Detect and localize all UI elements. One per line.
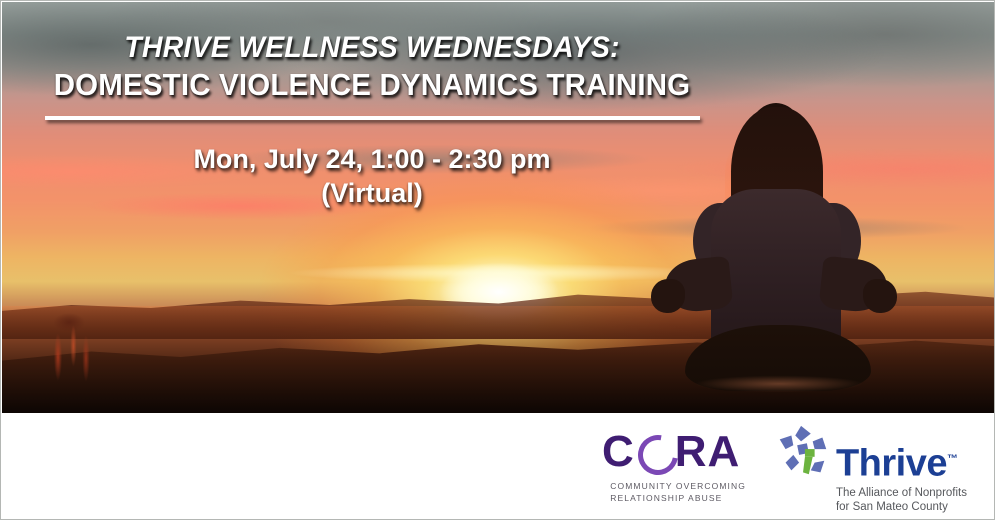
- thrive-logo: Thrive™ The Alliance of Nonprofits for S…: [772, 418, 967, 514]
- headline-block: THRIVE WELLNESS WEDNESDAYS: DOMESTIC VIO…: [2, 30, 742, 210]
- thrive-trademark-icon: ™: [947, 453, 958, 465]
- cora-tagline-line-1: COMMUNITY OVERCOMING: [610, 480, 746, 492]
- thrive-tagline-line-1: The Alliance of Nonprofits: [836, 486, 967, 500]
- title-line-1: THRIVE WELLNESS WEDNESDAYS:: [21, 30, 724, 66]
- title-line-2: DOMESTIC VIOLENCE DYNAMICS TRAINING: [21, 66, 724, 104]
- event-date-time: Mon, July 24, 1:00 - 2:30 pm: [2, 142, 742, 176]
- thrive-wordmark: Thrive: [836, 443, 947, 485]
- figure-hand-right-mudra: [863, 279, 897, 313]
- thrive-text-block: Thrive™ The Alliance of Nonprofits for S…: [836, 440, 967, 514]
- thrive-tagline: The Alliance of Nonprofits for San Mateo…: [836, 486, 967, 514]
- cora-wordmark: C R A: [596, 429, 746, 475]
- event-flyer: THRIVE WELLNESS WEDNESDAYS: DOMESTIC VIO…: [0, 0, 995, 520]
- cora-tagline-line-2: RELATIONSHIP ABUSE: [610, 492, 746, 504]
- cora-logo: C R A COMMUNITY OVERCOMING RELATIONSHIP …: [596, 429, 746, 504]
- event-format: (Virtual): [2, 176, 742, 210]
- cora-tagline: COMMUNITY OVERCOMING RELATIONSHIP ABUSE: [596, 480, 746, 504]
- divider-rule: [45, 116, 700, 120]
- thrive-wordmark-row: Thrive™: [836, 440, 958, 483]
- cora-swoosh-o-icon: [637, 434, 673, 470]
- cora-letter-c: C: [602, 429, 635, 475]
- thrive-pinwheel-icon: [772, 420, 834, 482]
- logo-row: C R A COMMUNITY OVERCOMING RELATIONSHIP …: [596, 418, 967, 514]
- plant-sprig: [37, 310, 107, 388]
- hero-photo: THRIVE WELLNESS WEDNESDAYS: DOMESTIC VIO…: [2, 2, 995, 413]
- thrive-tagline-line-2: for San Mateo County: [836, 500, 967, 514]
- figure-mat: [669, 375, 889, 397]
- cora-letter-r: R: [675, 429, 708, 475]
- logo-footer: C R A COMMUNITY OVERCOMING RELATIONSHIP …: [2, 413, 995, 519]
- cora-letter-a: A: [708, 429, 741, 475]
- figure-hand-left-mudra: [651, 279, 685, 313]
